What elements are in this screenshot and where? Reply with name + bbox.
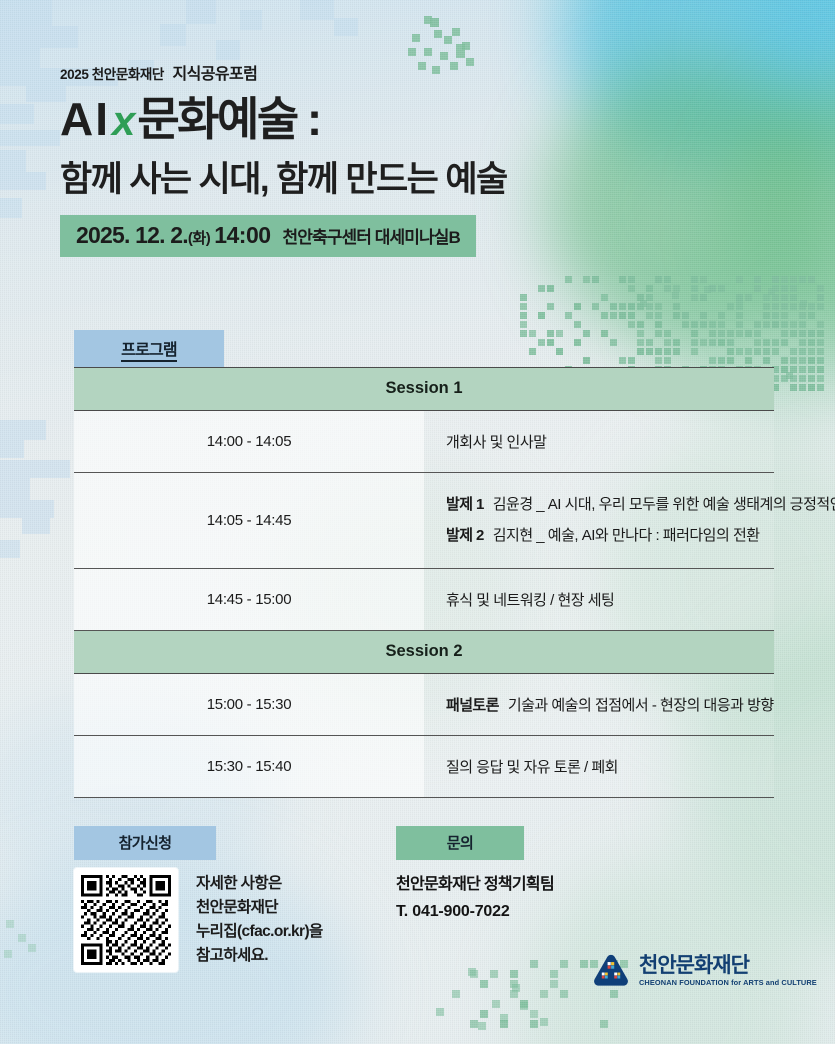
table-row: 14:45 - 15:00 휴식 및 네트워킹 / 현장 세팅 [74,569,774,631]
row-time: 14:05 - 14:45 [74,473,424,569]
talk-entry: 발제 2김지현 _ 예술, AI와 만나다 : 패러다임의 전환 [446,521,774,552]
talk-entry: 발제 1김윤경 _ AI 시대, 우리 모두를 위한 예술 생태계의 긍정적인 … [446,490,774,521]
contact-tag-label: 문의 [447,835,473,852]
row-text: 개회사 및 인사말 [446,434,546,451]
poster-header: 2025 천안문화재단 지식공유포럼 AIx문화예술 : 함께 사는 시대, 함… [60,60,760,257]
row-content: 개회사 및 인사말 [424,411,774,473]
eyebrow-organization: 2025 천안문화재단 [60,67,164,82]
talk-text: 김지현 _ 예술, AI와 만나다 : 패러다임의 전환 [493,527,760,544]
row-content: 패널토론기술과 예술의 접점에서 - 현장의 대응과 방향 [424,674,774,736]
session-label: Session 2 [74,631,774,674]
table-row: 14:00 - 14:05 개회사 및 인사말 [74,411,774,473]
event-venue: 천안축구센터 대세미나실B [283,228,460,247]
foundation-logo: 천안문화재단 CHEONAN FOUNDATION for ARTS and C… [592,952,817,990]
table-row: 14:05 - 14:45 발제 1김윤경 _ AI 시대, 우리 모두를 위한… [74,473,774,569]
event-time: 14:00 [214,222,270,248]
apply-instructions: 자세한 사항은 천안문화재단 누리집(cfac.or.kr)을 참고하세요. [196,868,323,972]
title-x-icon: x [110,97,137,144]
row-text: 휴식 및 네트워킹 / 현장 세팅 [446,592,614,609]
schedule-table: Session 1 14:00 - 14:05 개회사 및 인사말 14:05 … [74,367,774,798]
foundation-logo-text: 천안문화재단 CHEONAN FOUNDATION for ARTS and C… [639,955,817,986]
eyebrow-forum-name: 지식공유포럼 [173,66,258,83]
table-row: 15:30 - 15:40 질의 응답 및 자유 토론 / 폐회 [74,736,774,798]
event-weekday: (화) [188,230,210,247]
event-date: 2025. 12. 2. [76,222,188,248]
qr-code-icon[interactable] [74,868,178,972]
page-title: AIx문화예술 : [60,96,760,142]
program-section: 프로그램 Session 1 14:00 - 14:05 개회사 및 인사말 1… [74,330,774,798]
foundation-name-kr: 천안문화재단 [639,955,817,976]
session-header-row: Session 2 [74,631,774,674]
talk-label: 발제 2 [446,527,484,544]
contact-phone[interactable]: T. 041-900-7022 [396,903,554,921]
row-time: 14:45 - 15:00 [74,569,424,631]
apply-block: 자세한 사항은 천안문화재단 누리집(cfac.or.kr)을 참고하세요. [74,868,323,972]
apply-line: 참고하세요. [196,944,323,968]
row-content: 휴식 및 네트워킹 / 현장 세팅 [424,569,774,631]
row-time: 15:30 - 15:40 [74,736,424,798]
poster-root: 2025 천안문화재단 지식공유포럼 AIx문화예술 : 함께 사는 시대, 함… [0,0,835,1044]
talk-label: 발제 1 [446,496,484,513]
apply-tag: 참가신청 [74,826,216,860]
apply-line: 누리집(cfac.or.kr)을 [196,920,323,944]
panel-text: 기술과 예술의 접점에서 - 현장의 대응과 방향 [508,697,774,714]
program-tag: 프로그램 [74,330,224,367]
date-venue-banner: 2025. 12. 2.(화)14:00천안축구센터 대세미나실B [60,215,476,257]
row-time: 14:00 - 14:05 [74,411,424,473]
row-content: 발제 1김윤경 _ AI 시대, 우리 모두를 위한 예술 생태계의 긍정적인 … [424,473,774,569]
contact-tag: 문의 [396,826,524,860]
apply-line: 천안문화재단 [196,896,323,920]
contact-block: 천안문화재단 정책기획팀 T. 041-900-7022 [396,870,554,921]
program-tag-label: 프로그램 [121,342,177,362]
page-subtitle: 함께 사는 시대, 함께 만드는 예술 [60,162,760,197]
row-text: 질의 응답 및 자유 토론 / 폐회 [446,759,618,776]
apply-line: 자세한 사항은 [196,872,323,896]
foundation-name-en: CHEONAN FOUNDATION for ARTS and CULTURE [639,979,817,986]
panel-label: 패널토론 [446,697,499,714]
title-ai: AI [60,93,110,145]
apply-tag-label: 참가신청 [119,835,172,852]
session-header-row: Session 1 [74,368,774,411]
contact-organization: 천안문화재단 정책기획팀 [396,870,554,894]
session-label: Session 1 [74,368,774,411]
eyebrow-line: 2025 천안문화재단 지식공유포럼 [60,60,760,84]
table-row: 15:00 - 15:30 패널토론기술과 예술의 접점에서 - 현장의 대응과… [74,674,774,736]
talk-text: 김윤경 _ AI 시대, 우리 모두를 위한 예술 생태계의 긍정적인 미래 [493,496,835,513]
row-content: 질의 응답 및 자유 토론 / 폐회 [424,736,774,798]
row-time: 15:00 - 15:30 [74,674,424,736]
title-rest: 문화예술 : [137,93,319,145]
foundation-triangle-icon [592,952,630,990]
